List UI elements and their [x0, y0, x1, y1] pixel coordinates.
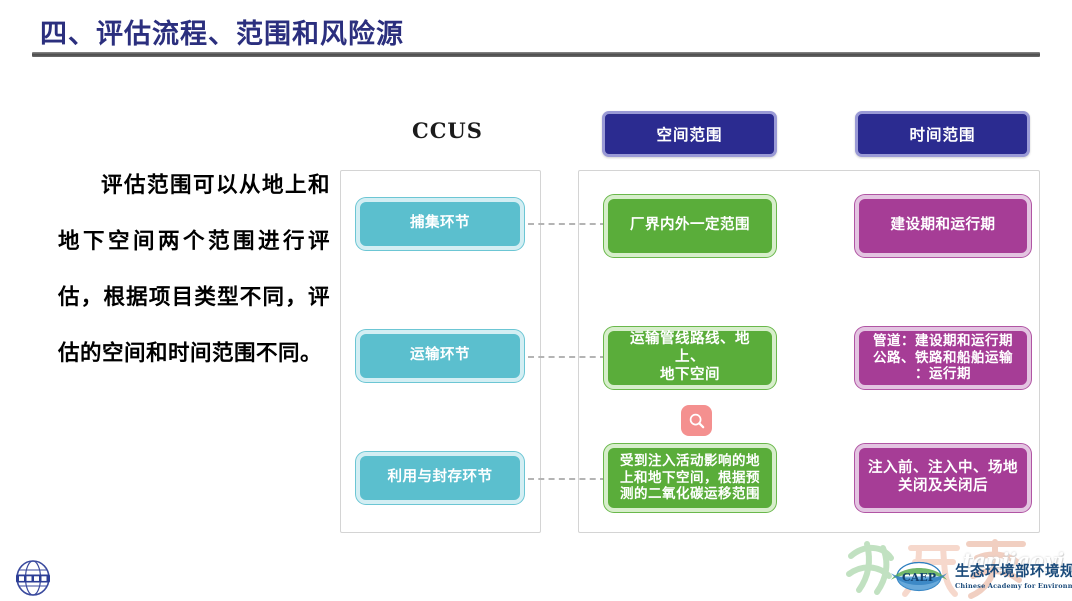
- stage-node-storage-label: 利用与封存环节: [388, 469, 493, 487]
- caep-org-name: 生态环境部环境规划院 Chinese Academy for Environme…: [955, 560, 1072, 590]
- search-icon[interactable]: [681, 405, 712, 436]
- caep-logo-icon: CAEP: [888, 560, 950, 593]
- temporal-node-transport-label: 管道：建设期和运行期 公路、铁路和船舶运输 ：运行期: [873, 333, 1013, 382]
- header-spatial-scope-label: 空间范围: [656, 123, 722, 145]
- diagram-caption: CCUS: [412, 118, 483, 143]
- spatial-node-storage[interactable]: 受到注入活动影响的地 上和地下空间，根据预 测的二氧化碳运移范围: [604, 444, 776, 512]
- connector-capture: [528, 223, 606, 225]
- temporal-node-capture[interactable]: 建设期和运行期: [855, 195, 1031, 257]
- footer-branding: tanjiaoyi CAEP 生态环境部环境规划院 Chinese Academ…: [845, 534, 1072, 601]
- temporal-node-capture-label: 建设期和运行期: [891, 217, 996, 235]
- body-paragraph: 评估范围可以从地上和地下空间两个范围进行评估，根据项目类型不同，评估的空间和时间…: [58, 158, 330, 382]
- header-spatial-scope[interactable]: 空间范围: [602, 111, 777, 157]
- stage-node-storage[interactable]: 利用与封存环节: [356, 452, 524, 504]
- spatial-node-storage-label: 受到注入活动影响的地 上和地下空间，根据预 测的二氧化碳运移范围: [620, 453, 760, 502]
- stage-node-transport[interactable]: 运输环节: [356, 330, 524, 382]
- page-title: 四、评估流程、范围和风险源: [40, 12, 404, 51]
- spatial-node-capture-label: 厂界内外一定范围: [630, 217, 750, 235]
- spatial-node-capture[interactable]: 厂界内外一定范围: [604, 195, 776, 257]
- temporal-node-transport[interactable]: 管道：建设期和运行期 公路、铁路和船舶运输 ：运行期: [855, 327, 1031, 389]
- header-temporal-scope-label: 时间范围: [909, 123, 975, 145]
- svg-text:CAEP: CAEP: [902, 571, 936, 584]
- stage-node-transport-label: 运输环节: [410, 347, 470, 365]
- connector-transport: [528, 356, 606, 358]
- connector-storage: [528, 478, 606, 480]
- title-divider: [32, 52, 1040, 57]
- slide-canvas: 四、评估流程、范围和风险源 评估范围可以从地上和地下空间两个范围进行评估，根据项…: [0, 0, 1072, 601]
- header-temporal-scope[interactable]: 时间范围: [855, 111, 1030, 157]
- caep-org-name-en: Chinese Academy for Environmental Planni…: [955, 582, 1072, 590]
- temporal-node-storage-label: 注入前、注入中、场地 关闭及关闭后: [868, 460, 1018, 495]
- globe-icon: [12, 558, 54, 598]
- stage-node-capture-label: 捕集环节: [410, 215, 470, 233]
- caep-org-name-cn: 生态环境部环境规划院: [955, 560, 1072, 581]
- spatial-node-transport-label: 运输管线路线、地上、 地下空间: [616, 331, 764, 384]
- spatial-node-transport[interactable]: 运输管线路线、地上、 地下空间: [604, 327, 776, 389]
- temporal-node-storage[interactable]: 注入前、注入中、场地 关闭及关闭后: [855, 444, 1031, 512]
- stage-node-capture[interactable]: 捕集环节: [356, 198, 524, 250]
- slide-header: 四、评估流程、范围和风险源: [0, 6, 1072, 58]
